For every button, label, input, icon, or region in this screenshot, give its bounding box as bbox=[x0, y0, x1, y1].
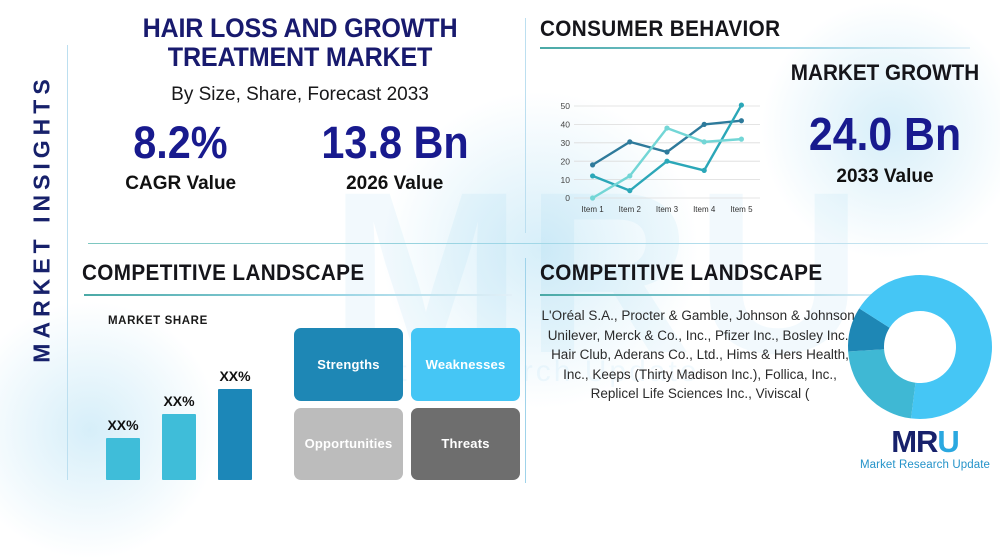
kpi-cagr: 8.2% CAGR Value bbox=[125, 120, 236, 195]
data-point bbox=[590, 173, 595, 178]
competitive-landscape-left-panel: COMPETITIVE LANDSCAPE MARKET SHARE XX%XX… bbox=[82, 260, 522, 490]
data-point bbox=[739, 137, 744, 142]
y-axis-tick: 50 bbox=[561, 101, 571, 111]
y-axis-tick: 40 bbox=[561, 120, 571, 130]
consumer-behavior-line-chart: 01020304050Item 1Item 2Item 3Item 4Item … bbox=[548, 100, 766, 218]
kpi-2026-value: 13.8 Bn bbox=[321, 120, 468, 165]
data-point bbox=[590, 195, 595, 200]
market-share-bar-chart: XX%XX%XX% bbox=[98, 332, 288, 480]
kpi-cagr-label: CAGR Value bbox=[125, 173, 236, 195]
swot-grid: StrengthsWeaknessesOpportunitiesThreats bbox=[294, 328, 520, 480]
data-point bbox=[627, 139, 632, 144]
bar-group: XX% bbox=[218, 368, 252, 480]
company-list: L'Oréal S.A., Procter & Gamble, Johnson … bbox=[540, 306, 860, 404]
sidebar-divider bbox=[67, 45, 68, 480]
heading-underline bbox=[84, 294, 512, 296]
bar-group: XX% bbox=[106, 417, 140, 480]
kpi-2026-label: 2026 Value bbox=[315, 173, 475, 195]
data-point bbox=[702, 139, 707, 144]
x-axis-tick: Item 2 bbox=[619, 205, 642, 214]
market-share-donut-chart bbox=[845, 272, 995, 422]
column-divider-bottom bbox=[525, 258, 526, 483]
consumer-behavior-heading: CONSUMER BEHAVIOR bbox=[540, 16, 968, 42]
line-chart-svg: 01020304050Item 1Item 2Item 3Item 4Item … bbox=[548, 100, 766, 218]
market-share-label: MARKET SHARE bbox=[108, 315, 208, 327]
y-axis-tick: 10 bbox=[561, 175, 571, 185]
swot-box-weaknesses[interactable]: Weaknesses bbox=[411, 328, 520, 401]
market-growth-label: 2033 Value bbox=[775, 166, 995, 188]
competitive-landscape-left-heading: COMPETITIVE LANDSCAPE bbox=[82, 260, 496, 286]
logo-mark-accent: U bbox=[937, 424, 958, 459]
competitive-landscape-right-panel: COMPETITIVE LANDSCAPE L'Oréal S.A., Proc… bbox=[540, 260, 1000, 495]
line-series bbox=[593, 105, 742, 191]
data-point bbox=[739, 102, 744, 107]
infographic-page: MARKET INSIGHTS HAIR LOSS AND GROWTH TRE… bbox=[0, 0, 1000, 500]
y-axis-tick: 20 bbox=[561, 156, 571, 166]
data-point bbox=[702, 168, 707, 173]
data-point bbox=[627, 173, 632, 178]
y-axis-tick: 30 bbox=[561, 138, 571, 148]
market-growth-heading: MARKET GROWTH bbox=[782, 60, 989, 86]
page-title: HAIR LOSS AND GROWTH TREATMENT MARKET bbox=[95, 14, 504, 72]
kpi-2026: 13.8 Bn 2026 Value bbox=[315, 120, 475, 195]
market-growth-value: 24.0 Bn bbox=[783, 111, 988, 157]
x-axis-tick: Item 1 bbox=[581, 205, 604, 214]
bar-value-label: XX% bbox=[106, 417, 140, 433]
market-insights-label: MARKET INSIGHTS bbox=[29, 9, 56, 429]
page-subtitle: By Size, Share, Forecast 2033 bbox=[80, 84, 520, 106]
data-point bbox=[590, 162, 595, 167]
title-panel: HAIR LOSS AND GROWTH TREATMENT MARKET By… bbox=[80, 14, 520, 234]
swot-box-strengths[interactable]: Strengths bbox=[294, 328, 403, 401]
donut-segment bbox=[848, 349, 915, 418]
bar bbox=[106, 438, 140, 480]
bar bbox=[162, 414, 196, 480]
swot-box-threats[interactable]: Threats bbox=[411, 408, 520, 481]
donut-chart-svg bbox=[845, 272, 995, 422]
logo-tagline: Market Research Update bbox=[855, 459, 995, 471]
data-point bbox=[739, 118, 744, 123]
x-axis-tick: Item 3 bbox=[656, 205, 679, 214]
bar-value-label: XX% bbox=[162, 393, 196, 409]
logo-mark-main: MR bbox=[891, 424, 937, 459]
heading-underline bbox=[540, 294, 895, 296]
kpi-row: 8.2% CAGR Value 13.8 Bn 2026 Value bbox=[80, 120, 520, 195]
column-divider-top bbox=[525, 18, 526, 233]
bar-group: XX% bbox=[162, 393, 196, 480]
consumer-behavior-panel: CONSUMER BEHAVIOR MARKET GROWTH 24.0 Bn … bbox=[540, 16, 995, 236]
y-axis-tick: 0 bbox=[565, 193, 570, 203]
data-point bbox=[664, 149, 669, 154]
data-point bbox=[664, 159, 669, 164]
heading-underline bbox=[540, 47, 970, 49]
bar bbox=[218, 389, 252, 480]
swot-box-opportunities[interactable]: Opportunities bbox=[294, 408, 403, 481]
donut-segment bbox=[911, 275, 992, 419]
bar-value-label: XX% bbox=[218, 368, 252, 384]
logo: MRU Market Research Update bbox=[855, 426, 995, 471]
sidebar-vertical-band: MARKET INSIGHTS bbox=[0, 0, 68, 500]
data-point bbox=[664, 125, 669, 130]
kpi-cagr-value: 8.2% bbox=[130, 120, 232, 165]
horizontal-divider bbox=[88, 243, 988, 244]
data-point bbox=[702, 122, 707, 127]
x-axis-tick: Item 5 bbox=[730, 205, 753, 214]
data-point bbox=[627, 188, 632, 193]
logo-mark: MRU bbox=[855, 426, 995, 457]
x-axis-tick: Item 4 bbox=[693, 205, 716, 214]
